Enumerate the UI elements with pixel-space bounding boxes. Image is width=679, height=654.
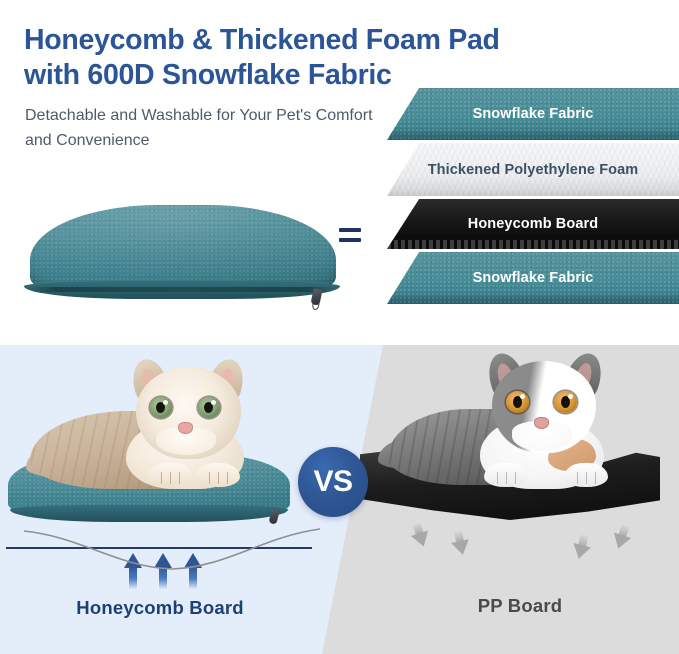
pad-zipper-icon bbox=[310, 288, 322, 306]
grey-cat-nose bbox=[534, 417, 549, 429]
grey-cat-muzzle bbox=[512, 421, 572, 451]
cream-cat-eye-right bbox=[198, 397, 220, 418]
grey-cat-head bbox=[492, 361, 596, 453]
layer-label-snowflake-fabric-top: Snowflake Fabric bbox=[473, 106, 594, 122]
honeycomb-pad-edge bbox=[10, 505, 288, 522]
layer-label-honeycomb-board: Honeycomb Board bbox=[468, 216, 598, 232]
page-subtitle: Detachable and Washable for Your Pet's C… bbox=[25, 104, 395, 154]
cream-cat-muzzle bbox=[156, 427, 216, 455]
layer-label-polyethylene-foam: Thickened Polyethylene Foam bbox=[428, 162, 639, 178]
layer-snowflake-fabric-bottom: Snowflake Fabric bbox=[387, 252, 679, 304]
layer-label-snowflake-fabric-bottom: Snowflake Fabric bbox=[473, 270, 594, 286]
grey-cat-ear-right bbox=[563, 349, 608, 398]
equals-icon bbox=[339, 227, 361, 249]
product-infographic: Honeycomb & Thickened Foam Pad with 600D… bbox=[0, 0, 679, 654]
comparison-right-label: PP Board bbox=[370, 595, 670, 617]
page-title-line-1: Honeycomb & Thickened Foam Pad bbox=[24, 24, 500, 56]
comparison-left-panel: Honeycomb Board bbox=[0, 345, 340, 654]
comparison-left-label: Honeycomb Board bbox=[0, 597, 320, 619]
versus-badge-label: VS bbox=[313, 467, 352, 497]
versus-badge: VS bbox=[298, 447, 368, 517]
grey-cat-ear-left bbox=[483, 349, 528, 398]
cream-cat-ear-left bbox=[127, 355, 170, 401]
cream-cat-head bbox=[136, 367, 241, 459]
layer-polyethylene-foam: Thickened Polyethylene Foam bbox=[387, 143, 679, 196]
cream-cat-eye-left bbox=[150, 397, 172, 418]
equals-bar-bottom bbox=[339, 238, 361, 242]
product-pad-image bbox=[18, 199, 348, 311]
layer-snowflake-fabric-top: Snowflake Fabric bbox=[387, 88, 679, 140]
grey-cat-ginger-leg bbox=[548, 439, 596, 471]
layer-stack-diagram: Snowflake Fabric Thickened Polyethylene … bbox=[387, 88, 679, 310]
pad-seam bbox=[32, 287, 332, 292]
cream-cat-nose bbox=[178, 422, 193, 434]
layer-honeycomb-board: Honeycomb Board bbox=[387, 199, 679, 249]
feature-overview-section: Honeycomb & Thickened Foam Pad with 600D… bbox=[0, 0, 679, 345]
grey-cat-eye-left bbox=[506, 391, 529, 413]
cream-cat-ear-right bbox=[205, 355, 248, 401]
grey-cat-eye-right bbox=[554, 391, 577, 413]
comparison-section: Honeycomb Board bbox=[0, 345, 679, 654]
page-title: Honeycomb & Thickened Foam Pad with 600D… bbox=[24, 23, 664, 93]
honeycomb-pad-image bbox=[8, 454, 290, 530]
sag-baseline bbox=[22, 523, 322, 573]
equals-bar-top bbox=[339, 228, 361, 232]
pp-board-image bbox=[360, 450, 660, 520]
